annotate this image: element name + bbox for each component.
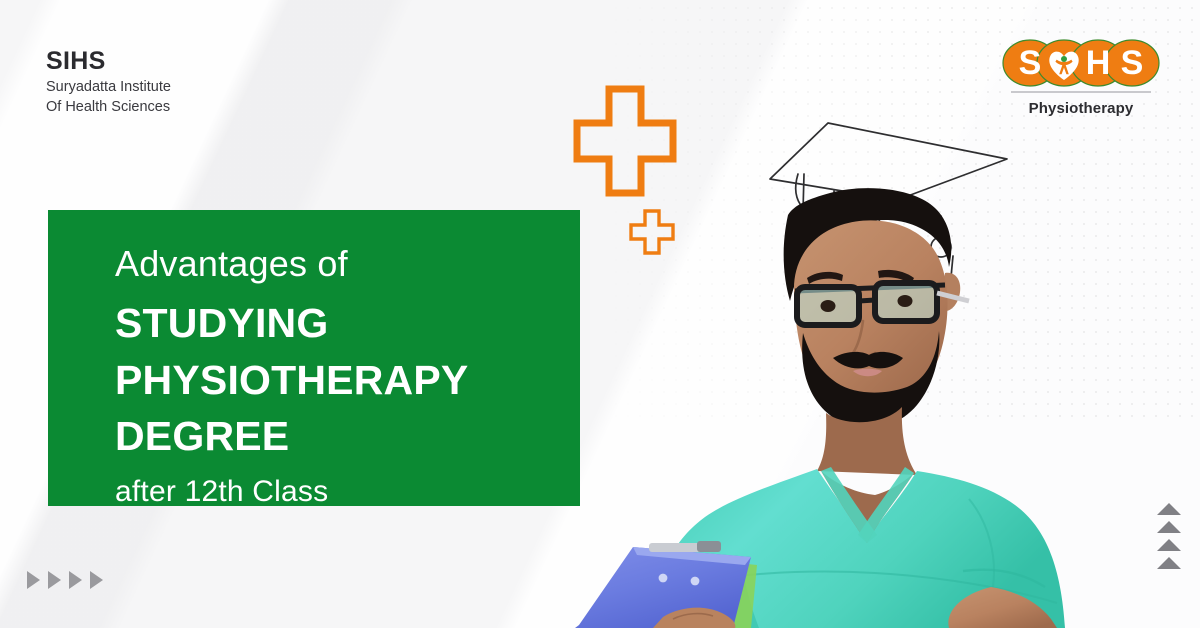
logo-circles-icon: S H S	[1002, 38, 1160, 88]
poster-canvas: SIHS Suryadatta Institute Of Health Scie…	[0, 0, 1200, 628]
headline-line-5: after 12th Class	[115, 477, 580, 507]
headline-line-1: Advantages of	[115, 246, 580, 282]
arrow-cluster-right	[1157, 503, 1181, 569]
arrow-up-icon	[1157, 539, 1181, 551]
arrow-right-icon	[27, 571, 40, 589]
logo-divider	[1011, 91, 1151, 93]
arrow-up-icon	[1157, 521, 1181, 533]
logo-mark: S H S	[1002, 38, 1160, 88]
arrow-up-icon	[1157, 503, 1181, 515]
svg-text:S: S	[1121, 44, 1144, 82]
headline-line-4: DEGREE	[115, 416, 580, 457]
headline-panel: Advantages of STUDYING PHYSIOTHERAPY DEG…	[48, 210, 580, 506]
arrow-right-icon	[69, 571, 82, 589]
brand-lockup: SIHS Suryadatta Institute Of Health Scie…	[46, 48, 171, 117]
svg-text:S: S	[1019, 44, 1042, 82]
headline-line-2: STUDYING	[115, 303, 580, 344]
hero-photo	[545, 95, 1105, 628]
brand-name-line-2: Of Health Sciences	[46, 98, 171, 118]
arrow-right-icon	[90, 571, 103, 589]
arrow-cluster-left	[27, 571, 103, 589]
brand-acronym: SIHS	[46, 48, 171, 74]
svg-text:H: H	[1086, 44, 1111, 82]
brand-name-line-1: Suryadatta Institute	[46, 78, 171, 98]
arrow-right-icon	[48, 571, 61, 589]
headline-line-3: PHYSIOTHERAPY	[115, 360, 580, 401]
brand-full-name: Suryadatta Institute Of Health Sciences	[46, 78, 171, 117]
arrow-up-icon	[1157, 557, 1181, 569]
